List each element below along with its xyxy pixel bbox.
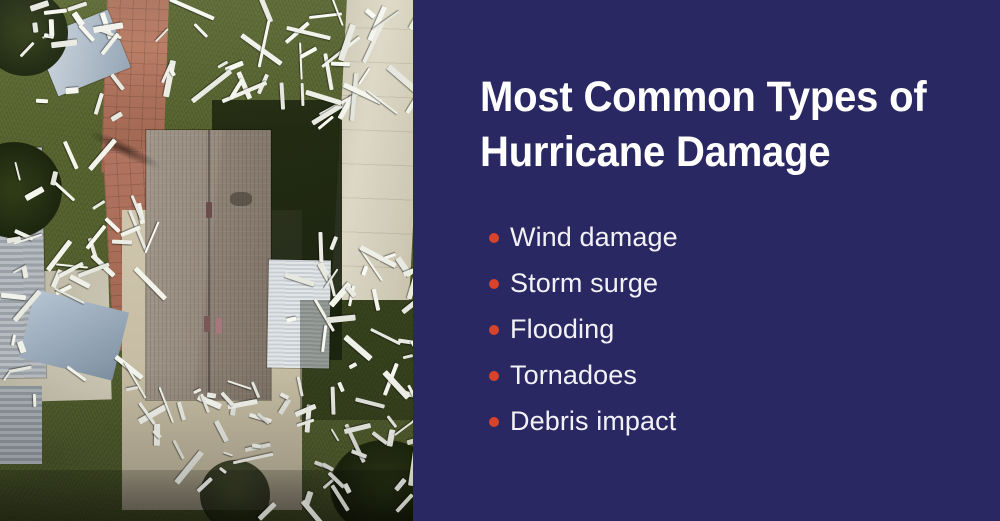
list-item-label: Flooding — [510, 314, 614, 344]
list-item: Wind damage — [480, 214, 920, 260]
debris-piece — [331, 386, 336, 415]
ground-shadow — [0, 470, 413, 521]
debris-piece — [66, 87, 79, 94]
roof-vent — [206, 202, 212, 218]
roof-ridge-line — [208, 130, 210, 400]
list-item: Storm surge — [480, 260, 920, 306]
text-panel: Most Common Types of Hurricane Damage Wi… — [413, 0, 1000, 521]
debris-piece — [35, 99, 47, 103]
list-item-label: Tornadoes — [510, 360, 637, 390]
list-item: Tornadoes — [480, 352, 920, 398]
bullet-icon — [489, 279, 499, 289]
ground-shadow — [300, 300, 413, 420]
list-item-label: Debris impact — [510, 406, 676, 436]
debris-piece — [49, 19, 55, 36]
hurricane-damage-banner: Most Common Types of Hurricane Damage Wi… — [0, 0, 1000, 521]
debris-piece — [300, 83, 304, 106]
bullet-icon — [489, 325, 499, 335]
hurricane-damage-photo — [0, 0, 413, 521]
bullet-icon — [489, 371, 499, 381]
page-title-line-1: Most Common Types of — [480, 70, 917, 125]
debris-piece — [331, 62, 351, 66]
roof-damage-patch — [230, 192, 252, 206]
bullet-icon — [489, 417, 499, 427]
bullet-icon — [489, 233, 499, 243]
list-item: Flooding — [480, 306, 920, 352]
roof-vent — [204, 316, 210, 332]
list-item-label: Wind damage — [510, 222, 678, 252]
list-item-label: Storm surge — [510, 268, 658, 298]
debris-piece — [112, 239, 132, 244]
debris-piece — [318, 231, 323, 261]
list-item: Debris impact — [480, 398, 920, 444]
debris-piece — [33, 394, 37, 407]
roof-vent — [216, 318, 222, 334]
damage-type-list: Wind damageStorm surgeFloodingTornadoesD… — [480, 214, 920, 444]
page-title: Most Common Types of Hurricane Damage — [480, 70, 917, 179]
page-title-line-2: Hurricane Damage — [480, 125, 917, 180]
debris-piece — [252, 443, 261, 449]
